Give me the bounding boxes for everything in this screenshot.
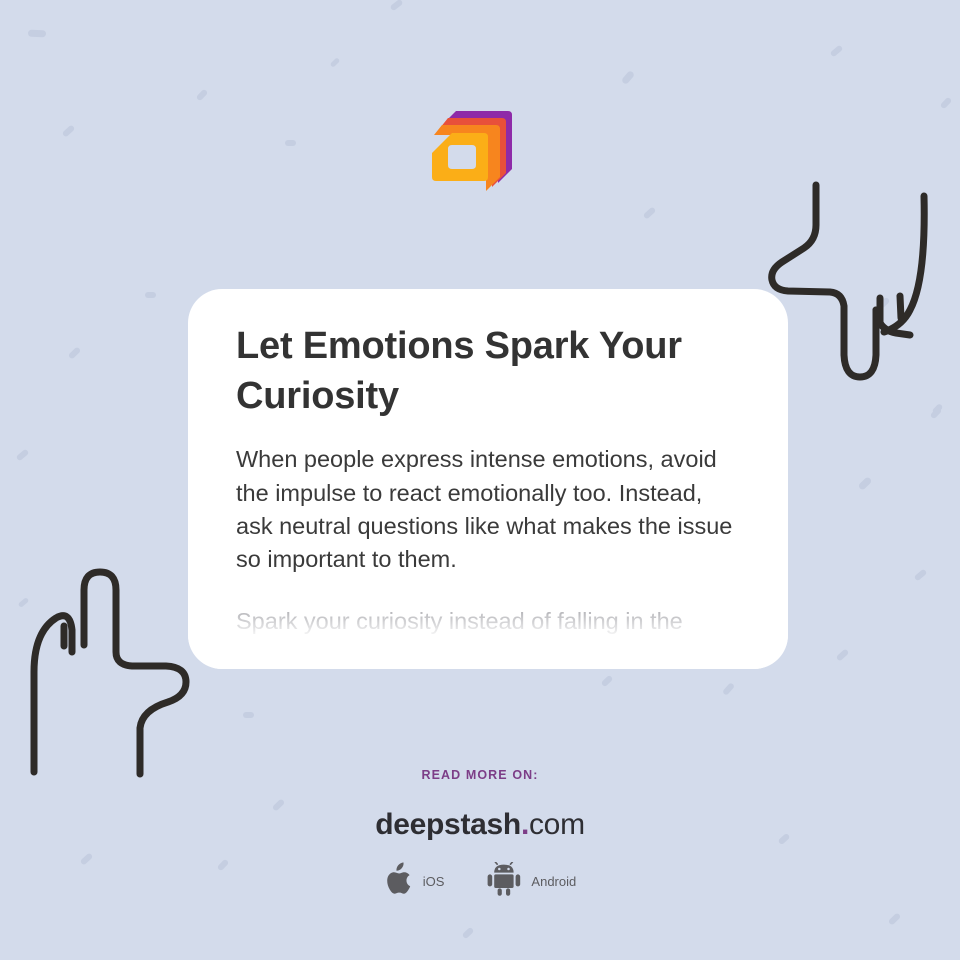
confetti-dash xyxy=(390,0,404,11)
wordmark-tld: com xyxy=(529,808,585,841)
apple-icon xyxy=(384,862,414,901)
confetti-dash xyxy=(462,927,475,940)
android-store-badge[interactable]: Android xyxy=(486,862,576,901)
confetti-dash xyxy=(68,346,82,359)
confetti-dash xyxy=(932,403,944,415)
confetti-dash xyxy=(830,45,844,58)
confetti-dash xyxy=(62,124,76,137)
card-title: Let Emotions Spark Your Curiosity xyxy=(236,321,740,421)
deepstash-logo xyxy=(430,107,514,195)
wordmark-name: deepstash xyxy=(375,808,521,841)
confetti-dash xyxy=(858,476,873,491)
confetti-dash xyxy=(914,569,928,582)
confetti-dash xyxy=(330,57,341,68)
store-badges: iOS Android xyxy=(0,862,960,901)
confetti-dash xyxy=(836,648,850,661)
logo-layer-amber xyxy=(432,133,488,181)
confetti-dash xyxy=(722,682,735,696)
confetti-dash xyxy=(243,712,254,718)
confetti-dash xyxy=(601,675,614,688)
pointing-up-hand-illustration xyxy=(26,560,206,785)
idea-card[interactable]: Let Emotions Spark Your Curiosity When p… xyxy=(188,289,788,669)
android-icon xyxy=(486,862,522,901)
pointing-down-hand-illustration xyxy=(760,170,960,395)
ios-store-label: iOS xyxy=(423,874,445,889)
card-body-text: When people express intense emotions, av… xyxy=(236,443,740,576)
confetti-dash xyxy=(621,70,635,85)
confetti-dash xyxy=(28,30,46,38)
card-teaser-text: Spark your curiosity instead of falling … xyxy=(236,605,740,638)
wordmark-dot: . xyxy=(521,808,529,841)
confetti-dash xyxy=(196,89,209,102)
android-store-label: Android xyxy=(531,874,576,889)
confetti-dash xyxy=(878,297,891,310)
confetti-dash xyxy=(888,912,902,925)
confetti-dash xyxy=(18,597,30,608)
confetti-dash xyxy=(930,407,943,420)
footer: READ MORE ON: deepstash.com iOS xyxy=(0,768,960,901)
read-more-label: READ MORE ON: xyxy=(0,768,960,782)
ios-store-badge[interactable]: iOS xyxy=(384,862,445,901)
deepstash-wordmark[interactable]: deepstash.com xyxy=(0,808,960,842)
confetti-dash xyxy=(285,140,296,146)
confetti-dash xyxy=(643,206,657,219)
confetti-dash xyxy=(940,97,953,110)
confetti-dash xyxy=(145,292,156,298)
confetti-dash xyxy=(16,449,30,462)
